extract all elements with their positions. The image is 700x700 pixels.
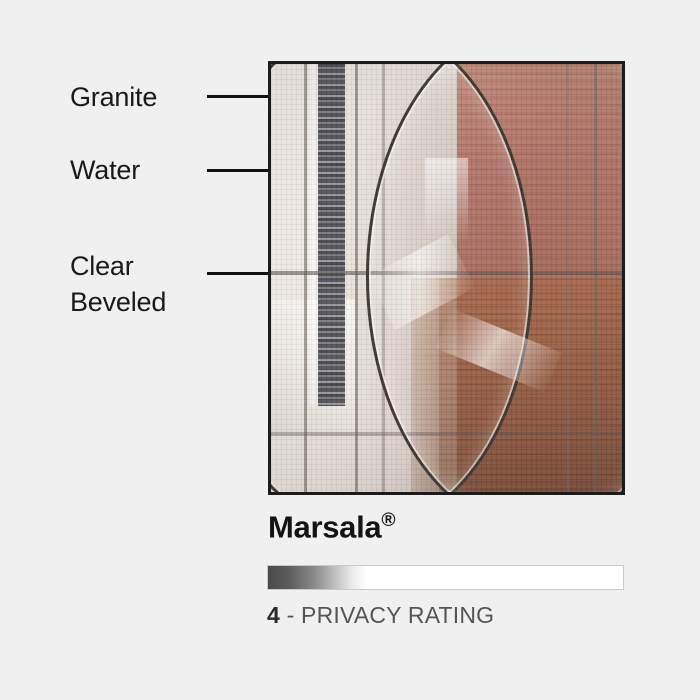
glass-panel-artwork xyxy=(271,64,622,492)
privacy-rating-value: 4 xyxy=(267,602,280,628)
product-name: Marsala® xyxy=(268,511,395,542)
callout-label-water: Water xyxy=(70,152,140,188)
bevel-glint xyxy=(425,158,467,244)
callout-label-granite: Granite xyxy=(70,79,157,115)
privacy-rating-label: PRIVACY RATING xyxy=(301,602,494,628)
glass-product-card: Granite Water Clear Beveled xyxy=(0,0,700,700)
callout-label-clear-beveled: Clear Beveled xyxy=(70,248,166,320)
privacy-rating-caption: 4 - PRIVACY RATING xyxy=(267,604,494,627)
product-name-text: Marsala xyxy=(268,509,381,544)
registered-trademark-icon: ® xyxy=(381,510,395,531)
glass-panel-image xyxy=(268,61,625,495)
privacy-rating-separator: - xyxy=(280,602,301,628)
privacy-rating-bar xyxy=(267,565,624,590)
